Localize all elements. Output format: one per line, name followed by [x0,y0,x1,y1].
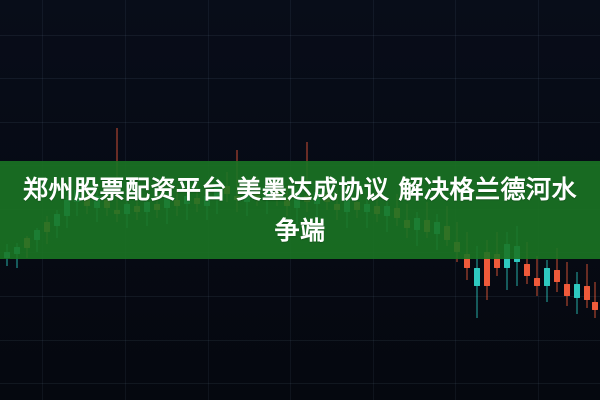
candlestick [564,262,570,306]
candlestick [574,272,580,314]
gridline-horizontal [0,78,600,79]
gridline-horizontal [0,35,600,36]
candlestick-body [524,264,530,276]
candlestick [584,264,590,308]
candlestick-body [534,278,540,286]
candlestick-body [554,270,560,282]
gridline-horizontal [0,296,600,297]
candlestick-body [474,268,480,286]
screenshot-root: 郑州股票配资平台 美墨达成协议 解决格兰德河水争端 [0,0,600,400]
gridline-horizontal [0,122,600,123]
candlestick-body [564,284,570,296]
candlestick-body [574,284,580,298]
candlestick [534,256,540,296]
headline-title: 郑州股票配资平台 美墨达成协议 解决格兰德河水争端 [14,169,586,251]
candlestick [544,260,550,302]
candlestick-wick [595,282,596,318]
headline-overlay-band: 郑州股票配资平台 美墨达成协议 解决格兰德河水争端 [0,161,600,259]
gridline-horizontal [0,340,600,341]
candlestick [592,282,598,318]
candlestick-wick [537,256,538,296]
candlestick-body [584,286,590,300]
candlestick-body [544,268,550,286]
gridline-horizontal [0,383,600,384]
candlestick-body [592,302,598,310]
